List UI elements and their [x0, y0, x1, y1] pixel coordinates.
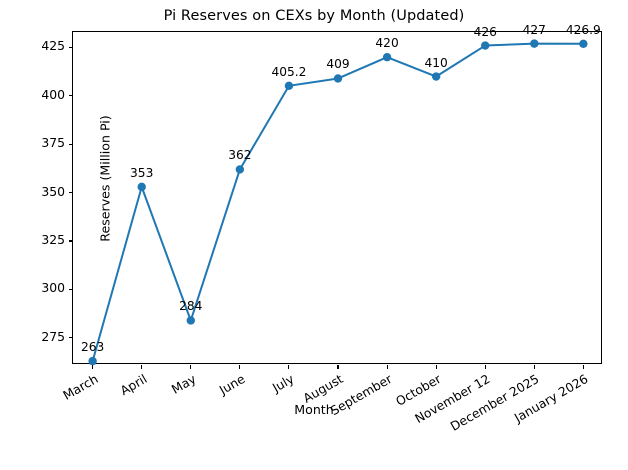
x-tick-label-text: June [216, 371, 247, 397]
data-point-marker [481, 41, 489, 49]
data-point-label: 409 [326, 57, 349, 71]
line-series-svg [73, 32, 603, 365]
y-tick-label: 325 [5, 232, 65, 247]
x-tick-mark [337, 365, 338, 369]
data-point-marker [530, 39, 538, 47]
data-point-marker [138, 183, 146, 191]
data-point-label: 405.2 [271, 65, 306, 79]
y-tick-mark [69, 95, 73, 96]
x-tick-mark [485, 365, 486, 369]
y-tick-mark [69, 144, 73, 145]
data-point-label: 410 [425, 56, 448, 70]
x-tick-label-text: July [270, 371, 297, 395]
data-point-label: 420 [375, 36, 398, 50]
x-tick-mark [190, 365, 191, 369]
data-point-label: 284 [179, 299, 202, 313]
data-point-label: 426 [474, 25, 497, 39]
x-tick-mark [92, 365, 93, 369]
data-point-marker [236, 165, 244, 173]
x-axis-label: Month [0, 402, 628, 417]
data-point-marker [187, 316, 195, 324]
data-point-marker [285, 82, 293, 90]
data-point-marker [432, 72, 440, 80]
y-tick-label: 375 [5, 135, 65, 150]
y-tick-mark [69, 289, 73, 290]
x-tick-label-text: May [169, 371, 199, 397]
data-point-marker [383, 53, 391, 61]
y-tick-label: 300 [5, 280, 65, 295]
series-line [93, 44, 584, 362]
x-tick-mark [141, 365, 142, 369]
y-tick-label: 350 [5, 184, 65, 199]
y-tick-mark [69, 192, 73, 193]
x-tick-mark [239, 365, 240, 369]
data-point-marker [334, 74, 342, 82]
x-tick-mark [288, 365, 289, 369]
y-tick-label: 275 [5, 329, 65, 344]
chart-figure: Pi Reserves on CEXs by Month (Updated) 2… [0, 0, 628, 470]
chart-title: Pi Reserves on CEXs by Month (Updated) [0, 8, 628, 24]
data-point-label: 427 [523, 23, 546, 37]
x-tick-mark [534, 365, 535, 369]
data-point-label: 353 [130, 166, 153, 180]
data-point-label: 362 [228, 148, 251, 162]
y-tick-mark [69, 240, 73, 241]
y-tick-label: 425 [5, 38, 65, 53]
x-tick-mark [583, 365, 584, 369]
data-point-label: 263 [81, 340, 104, 354]
y-tick-label: 400 [5, 87, 65, 102]
x-tick-mark [436, 365, 437, 369]
x-tick-mark [387, 365, 388, 369]
y-tick-mark [69, 337, 73, 338]
data-point-marker [579, 40, 587, 48]
y-axis-label: Reserves (Million Pi) [98, 69, 113, 289]
y-tick-mark [69, 47, 73, 48]
plot-area: 275300325350375400425 MarchAprilMayJuneJ… [72, 31, 602, 364]
x-tick-label-text: March [60, 371, 100, 403]
series-markers [88, 39, 587, 365]
data-point-label: 426.9 [566, 23, 601, 37]
x-tick-label-text: April [117, 371, 149, 398]
